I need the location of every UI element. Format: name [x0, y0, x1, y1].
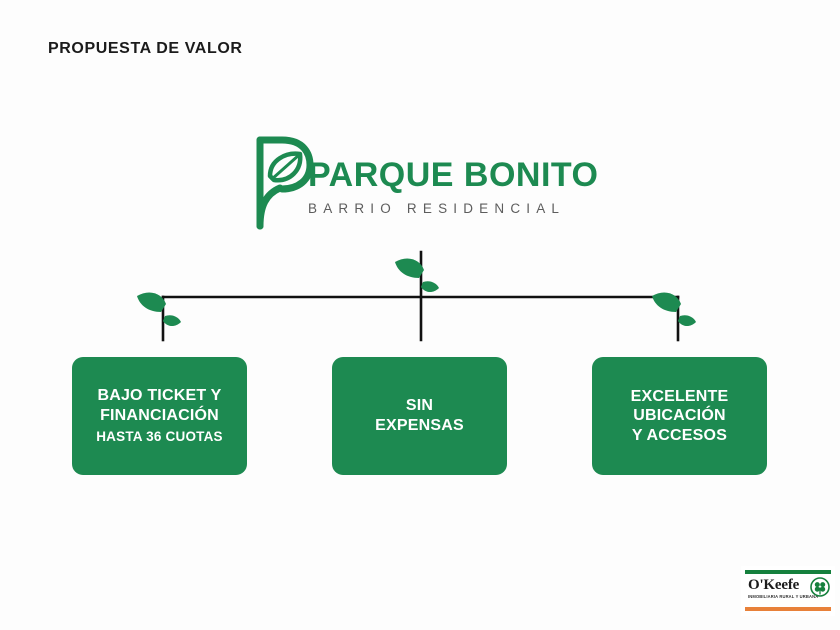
value-card-title-line1: BAJO TICKET Y: [97, 387, 221, 404]
value-card-location[interactable]: EXCELENTE UBICACIÓN Y ACCESOS: [592, 357, 767, 475]
value-card-title-line1: EXCELENTE: [631, 388, 729, 405]
value-card-title-line2: UBICACIÓN: [633, 407, 725, 424]
sprout-leaf-icon-center: [395, 259, 439, 293]
value-card-title: SIN EXPENSAS: [375, 396, 464, 435]
value-card-financing[interactable]: BAJO TICKET Y FINANCIACIÓN HASTA 36 CUOT…: [72, 357, 247, 475]
value-card-subtitle: HASTA 36 CUOTAS: [96, 429, 223, 445]
value-card-title-line2: EXPENSAS: [375, 417, 464, 434]
logo-bottom-bar: [745, 607, 831, 611]
value-card-title-line3: Y ACCESOS: [632, 427, 727, 444]
value-card-group: BAJO TICKET Y FINANCIACIÓN HASTA 36 CUOT…: [0, 357, 840, 475]
page-title: PROPUESTA DE VALOR: [48, 40, 243, 58]
value-card-title: BAJO TICKET Y FINANCIACIÓN: [97, 386, 221, 425]
leaf-p-monogram-icon: [246, 132, 316, 232]
clover-icon: [810, 577, 830, 597]
value-card-title: EXCELENTE UBICACIÓN Y ACCESOS: [631, 387, 729, 446]
logo-tagline: INMOBILIARIA RURAL Y URBANA: [748, 594, 818, 599]
logo-top-bar: [745, 570, 831, 574]
brand-text-block: PARQUE BONITO BARRIO RESIDENCIAL: [308, 158, 600, 216]
company-logo: O'Keefe INMOBILIARIA RURAL Y URBANA: [741, 566, 835, 616]
sprout-leaf-icon-right: [652, 293, 696, 327]
value-card-no-expenses[interactable]: SIN EXPENSAS: [332, 357, 507, 475]
brand-lockup: PARQUE BONITO BARRIO RESIDENCIAL: [246, 132, 596, 236]
brand-subtitle: BARRIO RESIDENCIAL: [308, 201, 600, 216]
value-card-title-line2: FINANCIACIÓN: [100, 407, 219, 424]
slide-canvas: PROPUESTA DE VALOR PARQUE BONITO BARRIO …: [0, 0, 840, 630]
value-card-title-line1: SIN: [406, 397, 433, 414]
logo-name: O'Keefe: [748, 578, 799, 593]
connector-bracket: [130, 250, 710, 360]
brand-name: PARQUE BONITO: [308, 158, 600, 192]
